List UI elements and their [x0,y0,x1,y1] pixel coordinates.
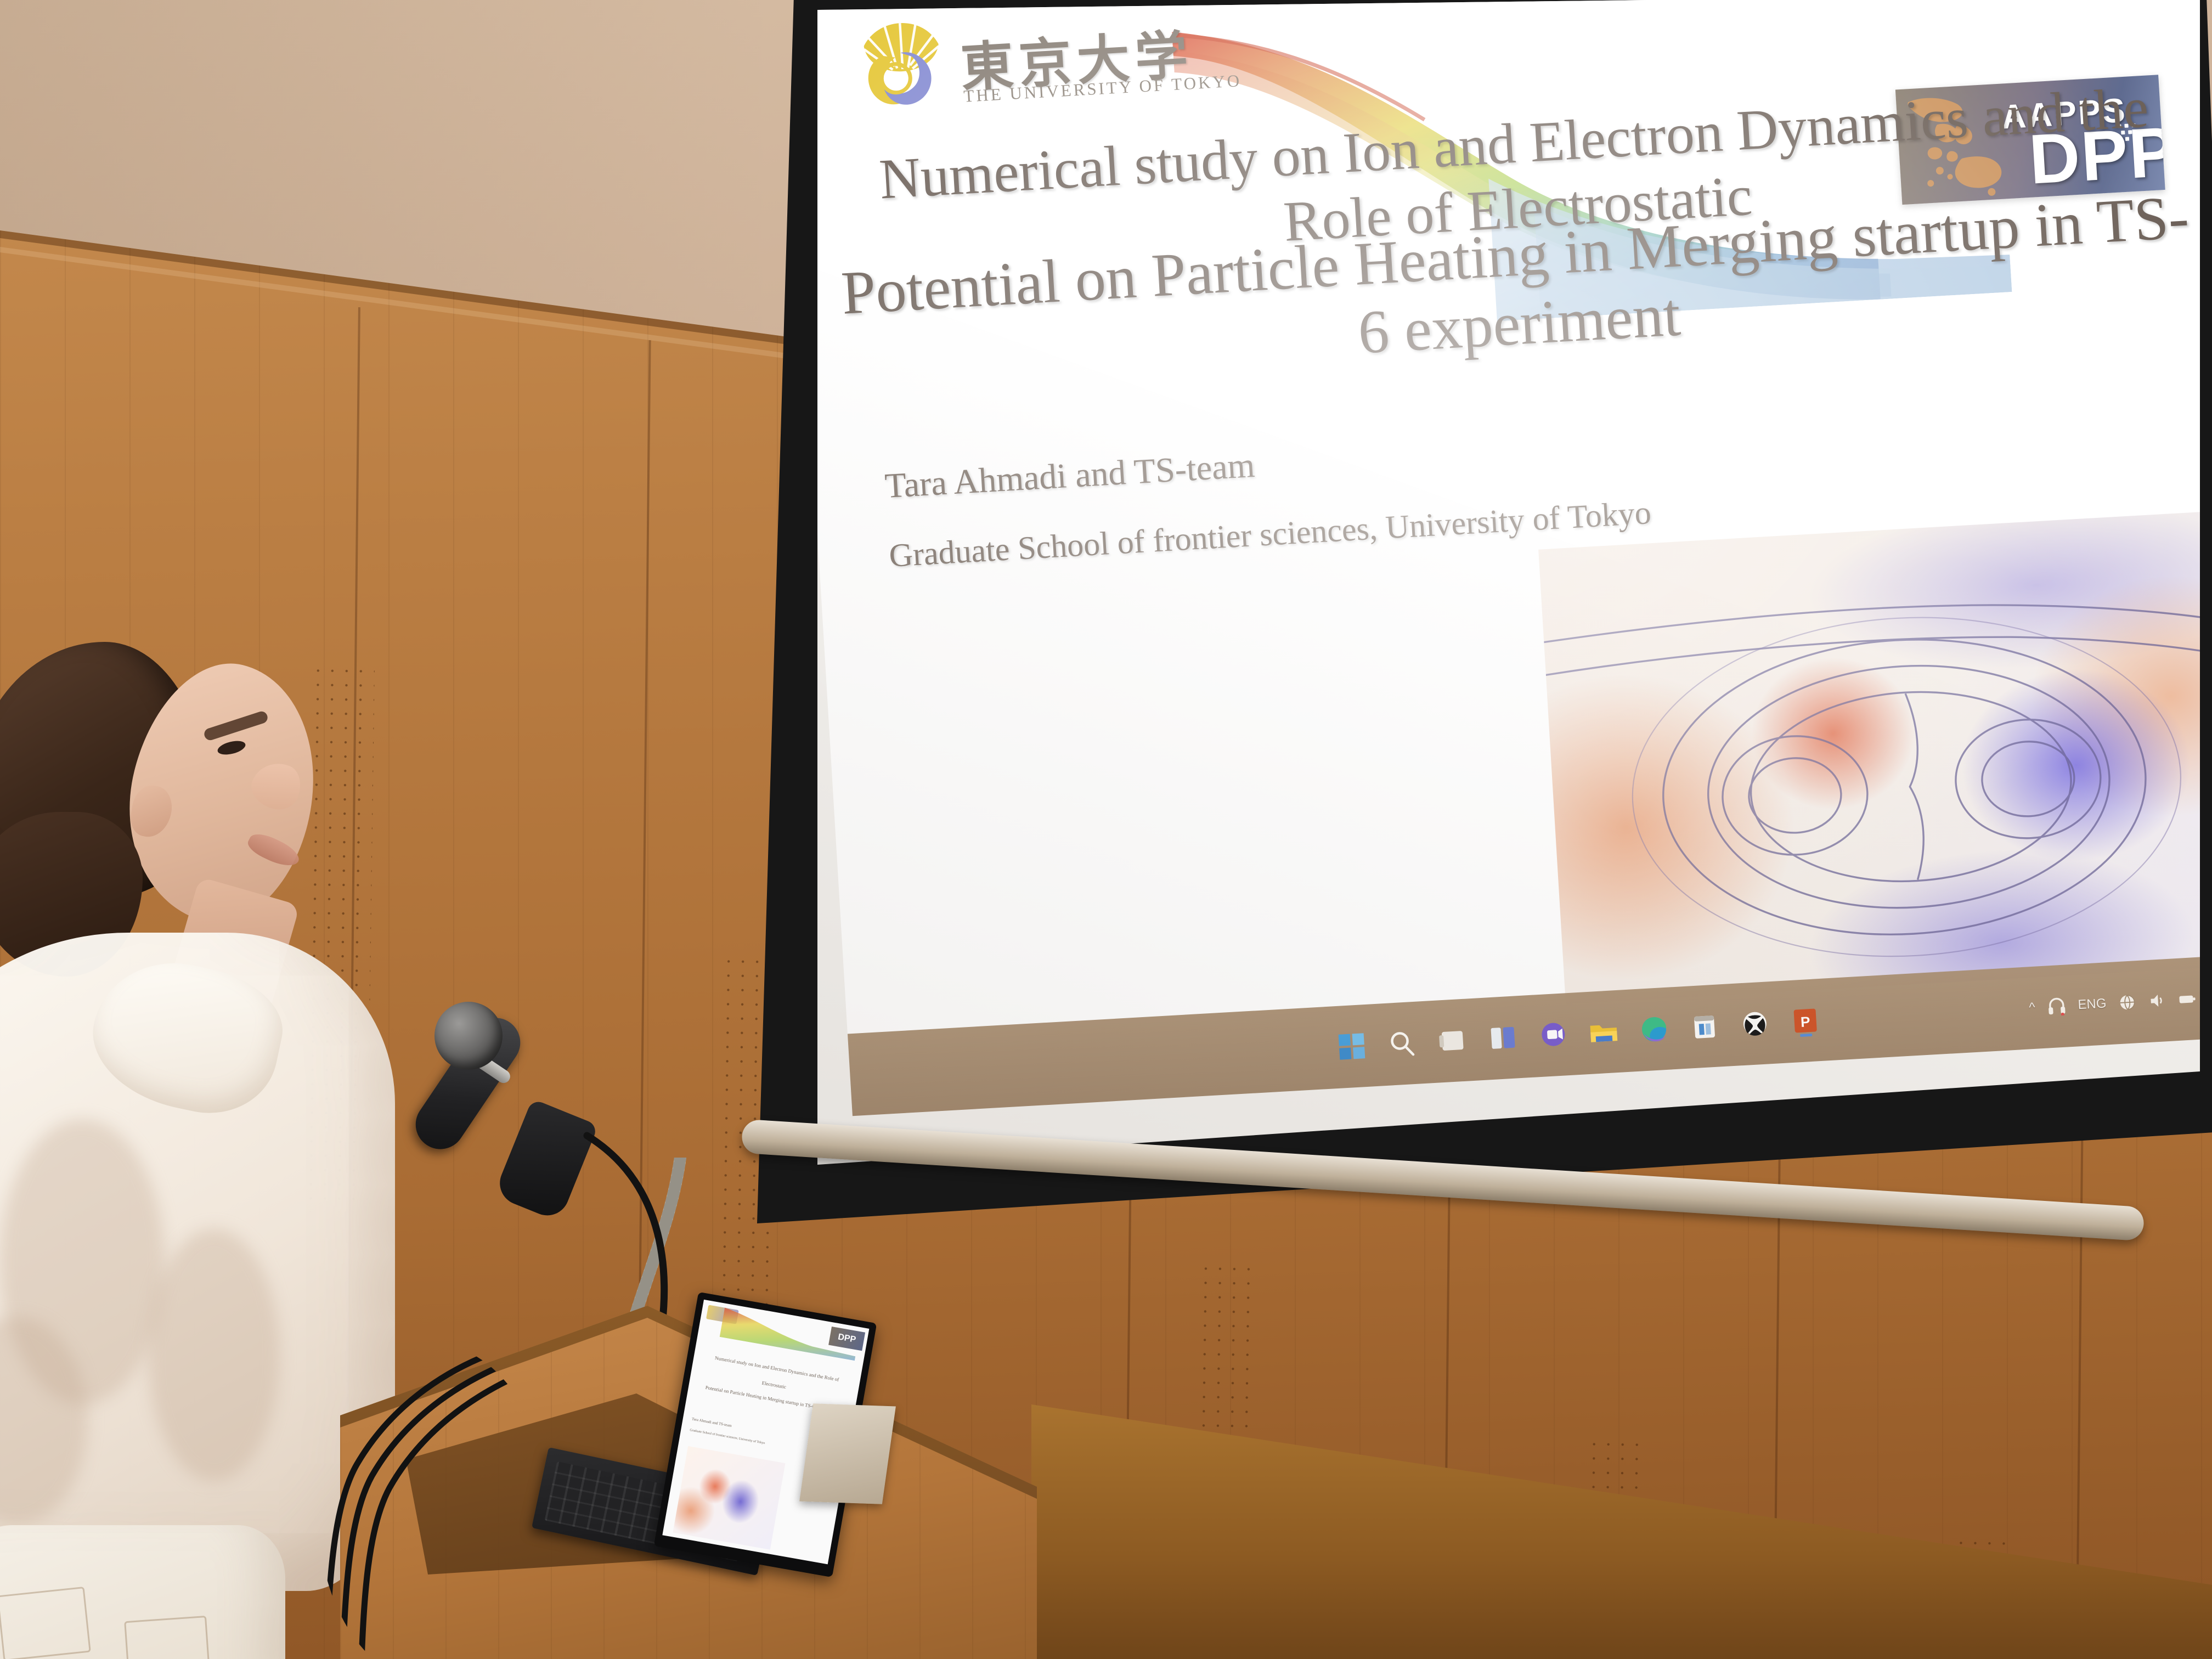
task-view-icon[interactable] [1436,1024,1469,1057]
slide-affiliation: Graduate School of frontier sciences, Un… [888,494,1652,575]
tray-overflow-chevron-icon[interactable]: ^ [2029,1000,2036,1016]
system-tray: ^ ENG [2027,952,2200,1049]
blouse-fold [148,1229,280,1481]
svg-text:P: P [1800,1013,1810,1030]
paper-stand [799,1403,896,1504]
file-explorer-icon[interactable] [1587,1015,1621,1049]
headset-icon[interactable] [2047,997,2067,1017]
widgets-icon[interactable] [1486,1021,1520,1054]
battery-icon[interactable] [2177,990,2197,1008]
projection-screen: 東京大学 THE UNIVERSITY OF TOKYO [757,0,2212,1251]
projected-slide: 東京大学 THE UNIVERSITY OF TOKYO [817,0,2200,1165]
edge-icon[interactable] [1637,1013,1671,1046]
powerpoint-icon[interactable]: P [1788,1004,1822,1037]
utokyo-gingko-mark-icon [853,16,951,114]
start-icon[interactable] [1335,1030,1368,1063]
laptop-title-line-1: Numerical study on Ion and Electron Dyna… [701,1353,853,1385]
taskbar-icon-group: P [1335,1004,1822,1063]
laptop-figure [673,1446,785,1550]
slide-author: Tara Ahmadi and TS-team [884,445,1256,506]
microphone-grille [435,1002,503,1070]
store-icon[interactable] [1688,1009,1721,1043]
xbox-icon[interactable] [1738,1007,1771,1040]
language-indicator[interactable]: ENG [2078,996,2107,1013]
slide-content: 東京大学 THE UNIVERSITY OF TOKYO [817,0,2200,1116]
utokyo-logo: 東京大学 THE UNIVERSITY OF TOKYO [853,0,1211,150]
lecture-hall-photo: 東京大学 THE UNIVERSITY OF TOKYO [0,0,2212,1659]
trouser-pocket [124,1616,211,1659]
network-icon[interactable] [2118,993,2136,1012]
flux-rope-contours [1538,510,2200,1005]
trouser-pocket [0,1587,91,1659]
volume-icon[interactable] [2147,991,2166,1010]
plasma-merging-figure [1538,510,2200,1005]
teams-chat-icon[interactable] [1537,1018,1570,1052]
search-icon[interactable] [1385,1027,1419,1060]
